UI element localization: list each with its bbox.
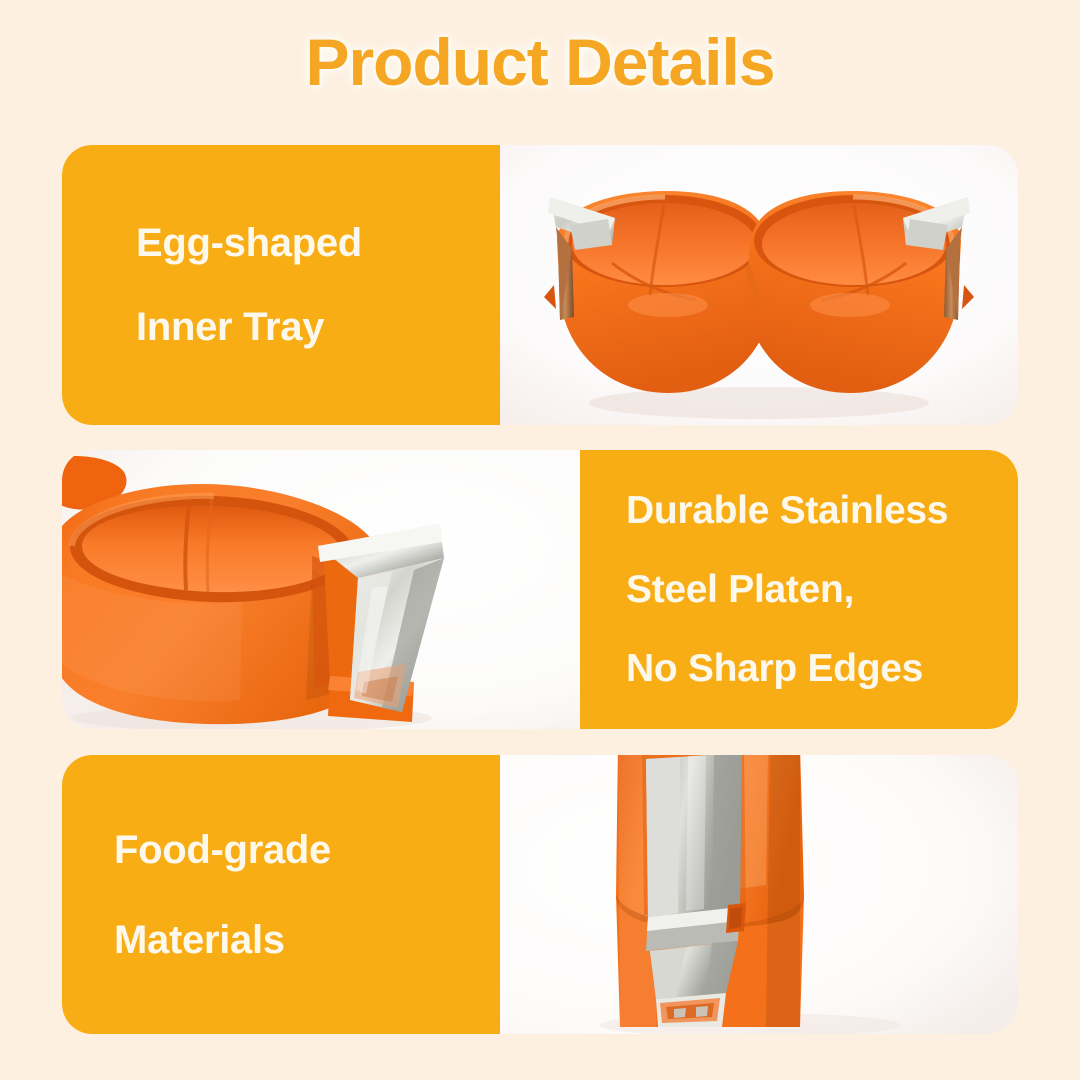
feature-line: Materials [114,920,476,960]
feature-line: Food-grade [114,830,476,870]
feature-text-panel-egg-shaped-inner-tray: Egg-shaped Inner Tray [62,145,500,425]
feature-row-food-grade-materials: Food-grade Materials [62,755,1018,1034]
single-cup-platen-illustration [62,450,580,729]
clip-detail-photo [500,755,1018,1034]
product-details-infographic: Product Details Egg-shaped Inner Tray [0,0,1080,1080]
feature-line: Durable Stainless [626,491,994,530]
feature-line: Steel Platen, [626,570,994,609]
feature-row-durable-stainless-steel-platen: Durable Stainless Steel Platen, No Sharp… [62,450,1018,729]
double-egg-tray-photo [500,145,1018,425]
feature-row-egg-shaped-inner-tray: Egg-shaped Inner Tray [62,145,1018,425]
clip-detail-illustration [500,755,1018,1034]
double-egg-tray-illustration [500,145,1018,425]
feature-text-panel-durable-stainless-steel-platen: Durable Stainless Steel Platen, No Sharp… [580,450,1018,729]
single-cup-platen-photo [62,450,580,729]
feature-line: Egg-shaped [136,223,476,263]
feature-text-panel-food-grade-materials: Food-grade Materials [62,755,500,1034]
feature-line: Inner Tray [136,307,476,347]
page-title: Product Details [0,26,1080,99]
feature-line: No Sharp Edges [626,649,994,688]
